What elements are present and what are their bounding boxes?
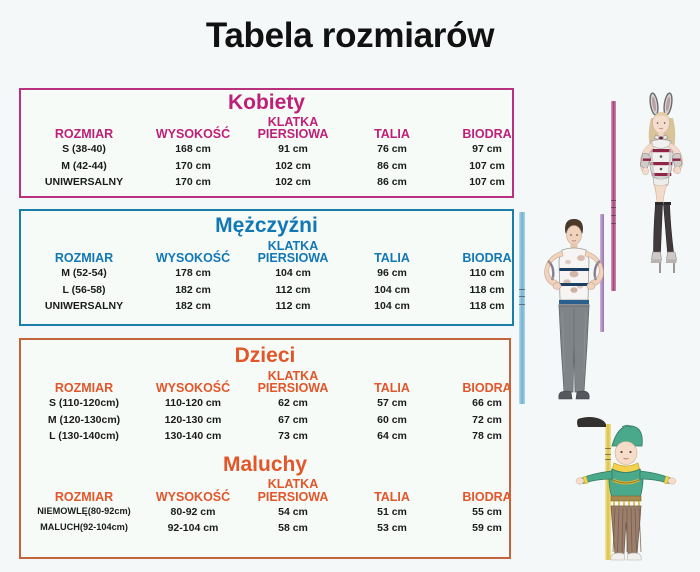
cell-chest: 102 cm [243, 174, 343, 191]
table-row: M (120-130cm) 120-130 cm 67 cm 60 cm 72 … [25, 412, 505, 429]
cell-waist: 76 cm [343, 141, 441, 158]
table-header-women: ROZMIAR WYSOKOŚĆ KLATKA PIERSIOWA TALIA … [25, 115, 508, 141]
cell-size: L (56-58) [25, 282, 143, 299]
cell-waist: 104 cm [343, 282, 441, 299]
column-header-height: WYSOKOŚĆ [143, 115, 243, 141]
column-header-chest: KLATKA PIERSIOWA [243, 478, 343, 504]
cell-height: 130-140 cm [143, 428, 243, 445]
cell-chest: 62 cm [243, 395, 343, 412]
cell-waist: 57 cm [343, 395, 441, 412]
cell-size: M (120-130cm) [25, 412, 143, 429]
cell-chest: 54 cm [243, 504, 343, 521]
cell-size: MALUCH(92-104cm) [25, 520, 143, 537]
cell-height: 178 cm [143, 265, 243, 282]
column-header-waist: TALIA [343, 478, 441, 504]
cell-hips: 78 cm [441, 428, 533, 445]
cell-hips: 59 cm [441, 520, 533, 537]
cell-height: 120-130 cm [143, 412, 243, 429]
column-header-waist: TALIA [343, 369, 441, 395]
cell-waist: 96 cm [343, 265, 441, 282]
table-row: MALUCH(92-104cm) 92-104 cm 58 cm 53 cm 5… [25, 520, 505, 537]
cell-chest: 91 cm [243, 141, 343, 158]
section-heading-kids: Dzieci [25, 345, 505, 367]
cell-chest: 67 cm [243, 412, 343, 429]
column-header-chest: KLATKA PIERSIOWA [243, 115, 343, 141]
table-row: UNIWERSALNY 170 cm 102 cm 86 cm 107 cm [25, 174, 508, 191]
cell-size: M (42-44) [25, 158, 143, 175]
cell-height: 170 cm [143, 158, 243, 175]
column-header-height: WYSOKOŚĆ [143, 478, 243, 504]
table-header-kids: ROZMIAR WYSOKOŚĆ KLATKA PIERSIOWA TALIA … [25, 369, 505, 395]
table-header-men: ROZMIAR WYSOKOŚĆ KLATKA PIERSIOWA TALIA … [25, 239, 508, 265]
cell-waist: 53 cm [343, 520, 441, 537]
cell-chest: 58 cm [243, 520, 343, 537]
cell-height: 80-92 cm [143, 504, 243, 521]
measuring-stick-blue-icon [519, 212, 525, 404]
table-row: S (110-120cm) 110-120 cm 62 cm 57 cm 66 … [25, 395, 505, 412]
cell-height: 182 cm [143, 282, 243, 299]
table-row: L (56-58) 182 cm 112 cm 104 cm 118 cm [25, 282, 508, 299]
cell-chest: 112 cm [243, 298, 343, 315]
cell-size: UNIWERSALNY [25, 298, 143, 315]
column-header-chest: KLATKA PIERSIOWA [243, 239, 343, 265]
column-header-waist: TALIA [343, 115, 441, 141]
table-header-toddlers: ROZMIAR WYSOKOŚĆ KLATKA PIERSIOWA TALIA … [25, 478, 505, 504]
illustration-child-jester-costume [560, 424, 692, 566]
size-chart-page: Tabela rozmiarów Kobiety ROZMIAR WYSOKOŚ… [0, 0, 700, 572]
cell-size: M (52-54) [25, 265, 143, 282]
cell-hips: 107 cm [441, 174, 533, 191]
column-header-size: ROZMIAR [25, 115, 143, 141]
size-table-men: Mężczyźni ROZMIAR WYSOKOŚĆ KLATKA PIERSI… [19, 209, 514, 326]
cell-chest: 112 cm [243, 282, 343, 299]
table-row: NIEMOWLĘ(80-92cm) 80-92 cm 54 cm 51 cm 5… [25, 504, 505, 521]
illustration-shoe-fragment [575, 415, 609, 431]
cell-hips: 97 cm [441, 141, 533, 158]
cell-size: UNIWERSALNY [25, 174, 143, 191]
column-header-height: WYSOKOŚĆ [143, 369, 243, 395]
cell-waist: 51 cm [343, 504, 441, 521]
illustration-man-tank-top [526, 216, 622, 412]
column-header-hips: BIODRA [441, 115, 533, 141]
table-row: S (38-40) 168 cm 91 cm 76 cm 97 cm [25, 141, 508, 158]
column-header-size: ROZMIAR [25, 239, 143, 265]
cell-chest: 73 cm [243, 428, 343, 445]
cell-height: 110-120 cm [143, 395, 243, 412]
cell-hips: 72 cm [441, 412, 533, 429]
cell-height: 170 cm [143, 174, 243, 191]
table-row: M (42-44) 170 cm 102 cm 86 cm 107 cm [25, 158, 508, 175]
cell-height: 168 cm [143, 141, 243, 158]
cell-size: NIEMOWLĘ(80-92cm) [25, 504, 143, 521]
table-row: L (130-140cm) 130-140 cm 73 cm 64 cm 78 … [25, 428, 505, 445]
illustration-woman-bunny-costume [624, 92, 700, 302]
cell-hips: 107 cm [441, 158, 533, 175]
section-heading-toddlers: Maluchy [25, 454, 505, 476]
section-heading-women: Kobiety [25, 92, 508, 114]
cell-hips: 55 cm [441, 504, 533, 521]
page-title: Tabela rozmiarów [0, 16, 700, 56]
cell-waist: 86 cm [343, 158, 441, 175]
column-header-size: ROZMIAR [25, 369, 143, 395]
cell-waist: 86 cm [343, 174, 441, 191]
cell-height: 182 cm [143, 298, 243, 315]
column-header-hips: BIODRA [441, 478, 533, 504]
column-header-chest: KLATKA PIERSIOWA [243, 369, 343, 395]
cell-chest: 102 cm [243, 158, 343, 175]
table-row: M (52-54) 178 cm 104 cm 96 cm 110 cm [25, 265, 508, 282]
cell-size: S (38-40) [25, 141, 143, 158]
column-header-waist: TALIA [343, 239, 441, 265]
column-header-height: WYSOKOŚĆ [143, 239, 243, 265]
section-heading-men: Mężczyźni [25, 215, 508, 237]
cell-waist: 60 cm [343, 412, 441, 429]
cell-waist: 104 cm [343, 298, 441, 315]
cell-size: L (130-140cm) [25, 428, 143, 445]
size-table-women: Kobiety ROZMIAR WYSOKOŚĆ KLATKA PIERSIOW… [19, 88, 514, 198]
cell-chest: 104 cm [243, 265, 343, 282]
cell-height: 92-104 cm [143, 520, 243, 537]
size-table-children: Dzieci ROZMIAR WYSOKOŚĆ KLATKA PIERSIOWA… [19, 338, 511, 559]
column-header-size: ROZMIAR [25, 478, 143, 504]
cell-waist: 64 cm [343, 428, 441, 445]
cell-size: S (110-120cm) [25, 395, 143, 412]
table-row: UNIWERSALNY 182 cm 112 cm 104 cm 118 cm [25, 298, 508, 315]
